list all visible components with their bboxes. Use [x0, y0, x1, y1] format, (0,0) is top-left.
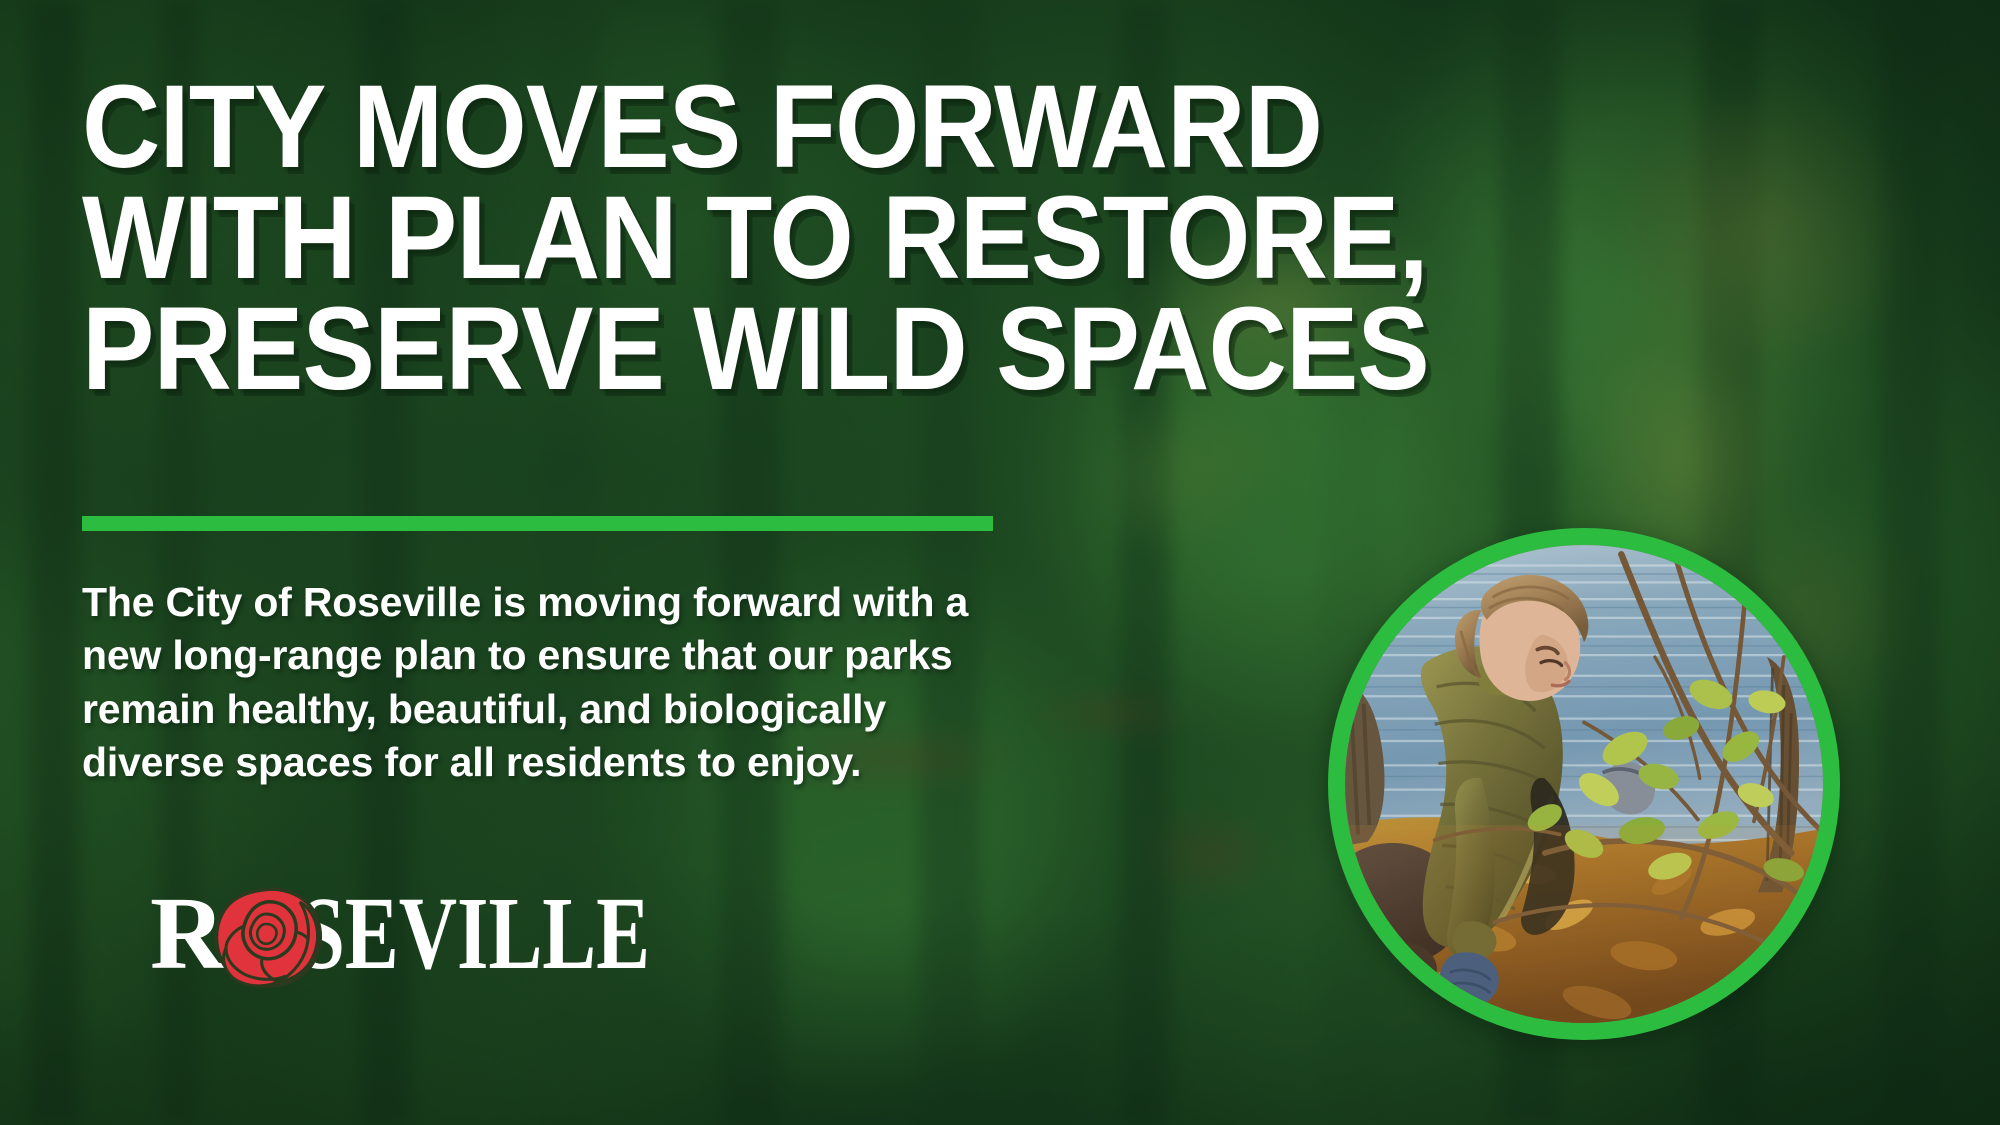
headline-line-2: WITH PLAN TO RESTORE,: [82, 183, 1812, 294]
page-title: CITY MOVES FORWARD WITH PLAN TO RESTORE,…: [82, 72, 1812, 405]
headline-line-1: CITY MOVES FORWARD: [82, 72, 1812, 183]
logo-letters-seville: SEVILLE: [300, 880, 650, 990]
green-divider-bar: [82, 516, 993, 531]
volunteer-restoring-shoreline-photo: [1345, 545, 1823, 1023]
headline-line-3: PRESERVE WILD SPACES: [82, 294, 1812, 405]
body-line-3: remain healthy, beautiful, and biologica…: [82, 683, 1092, 736]
body-line-4: diverse spaces for all residents to enjo…: [82, 736, 1092, 789]
photo-illustration: [1345, 545, 1823, 1023]
roseville-wordmark-svg: .serif-wm { font-family:"Liberation Seri…: [150, 880, 650, 990]
body-line-1: The City of Roseville is moving forward …: [82, 576, 1092, 629]
body-line-2: new long-range plan to ensure that our p…: [82, 629, 1092, 682]
roseville-logo: .serif-wm { font-family:"Liberation Seri…: [150, 880, 650, 990]
rose-icon: [217, 889, 321, 986]
body-paragraph: The City of Roseville is moving forward …: [82, 576, 1092, 789]
photo-circle-frame: [1328, 528, 1840, 1040]
